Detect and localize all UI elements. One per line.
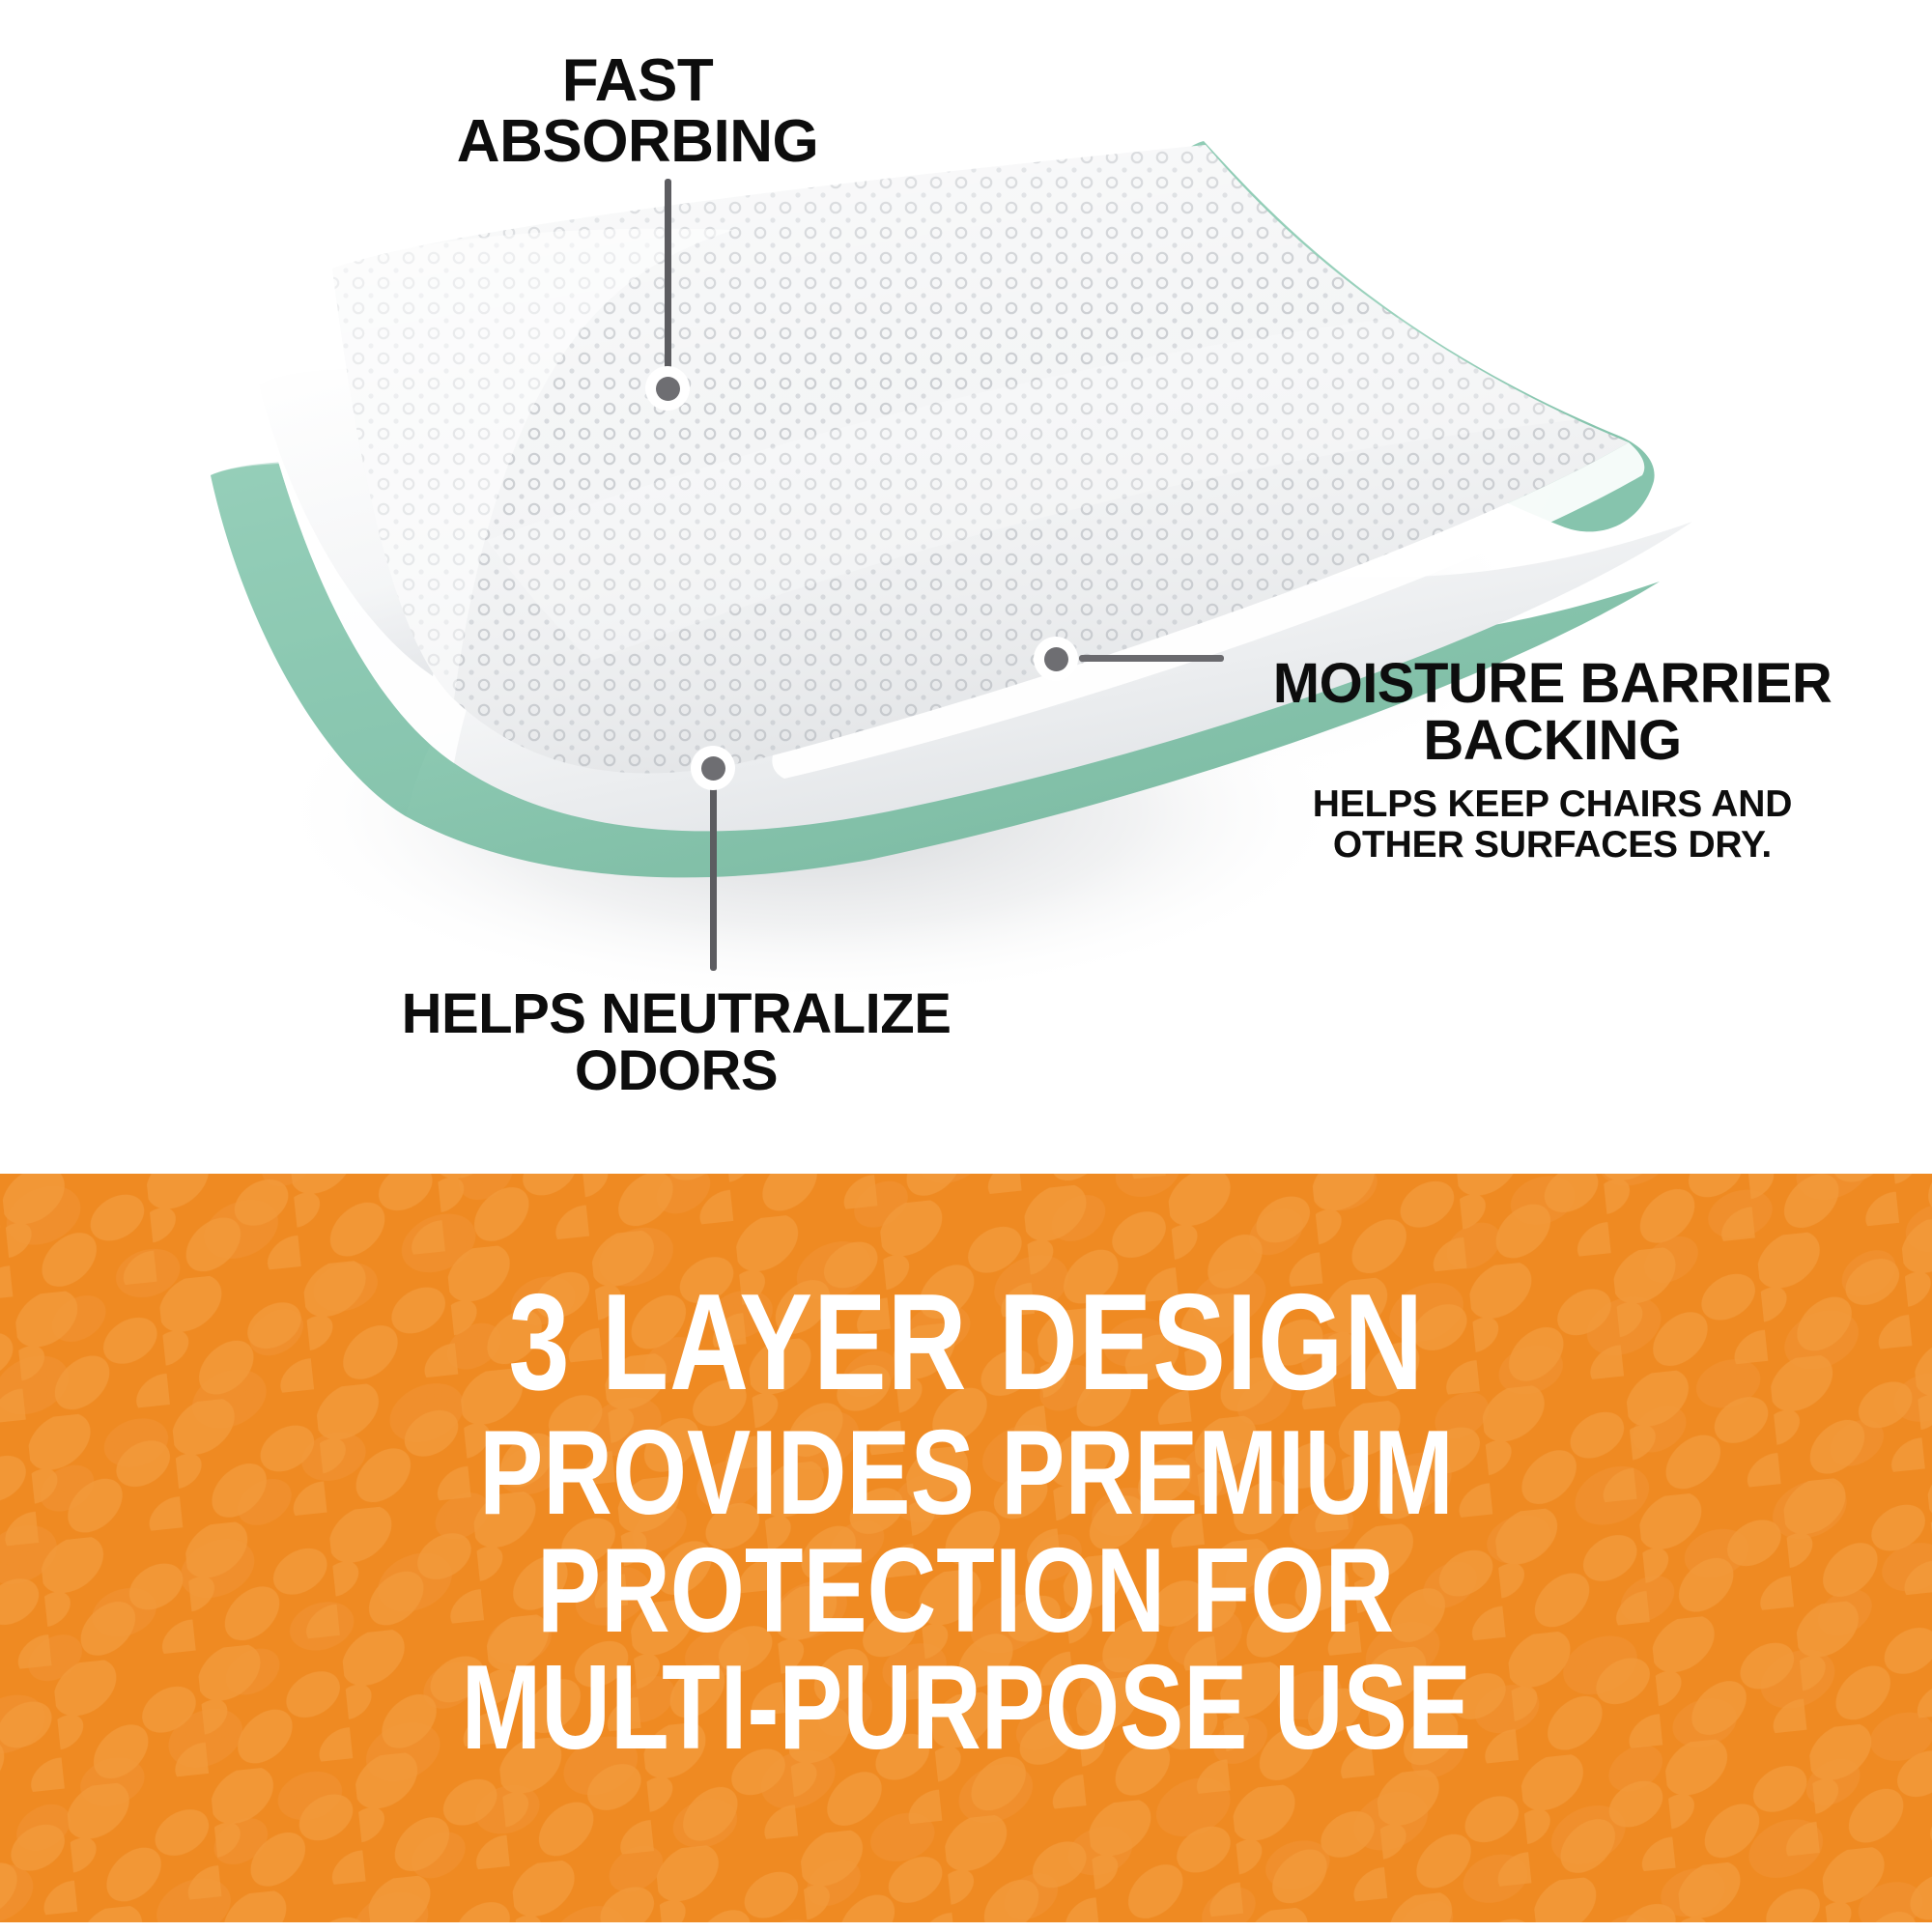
callout-moisture-barrier-sub-line1: HELPS KEEP CHAIRS AND — [1171, 784, 1932, 824]
callout-neutralize-odors-line2: ODORS — [319, 1042, 1034, 1099]
callout-moisture-barrier-sub-line2: OTHER SURFACES DRY. — [1171, 825, 1932, 865]
banner-subline-3: MULTI-PURPOSE USE — [461, 1650, 1470, 1768]
callout-fast-absorbing-line2: ABSORBING — [415, 111, 860, 172]
banner-subline-2: PROTECTION FOR — [537, 1533, 1394, 1651]
callout-dot-fast-absorbing — [645, 366, 690, 411]
callout-dot-neutralize-odors — [691, 746, 735, 790]
bottom-white-strip — [0, 1922, 1932, 1932]
product-illustration-section: FAST ABSORBING MOISTURE BARRIER BACKING … — [0, 0, 1932, 1174]
banner-text-block: 3 LAYER DESIGN PROVIDES PREMIUM PROTECTI… — [0, 1174, 1932, 1922]
orange-banner-section: 3 LAYER DESIGN PROVIDES PREMIUM PROTECTI… — [0, 1174, 1932, 1922]
banner-headline: 3 LAYER DESIGN — [508, 1275, 1424, 1409]
leader-line-fast-absorbing — [665, 179, 671, 382]
callout-moisture-barrier-line1: MOISTURE BARRIER — [1171, 655, 1932, 712]
callout-label-moisture-barrier: MOISTURE BARRIER BACKING HELPS KEEP CHAI… — [1171, 655, 1932, 865]
banner-subline-1: PROVIDES PREMIUM — [479, 1415, 1454, 1533]
callout-label-fast-absorbing: FAST ABSORBING — [415, 50, 860, 172]
callout-fast-absorbing-line1: FAST — [415, 50, 860, 111]
callout-moisture-barrier-line2: BACKING — [1171, 712, 1932, 769]
infographic-canvas: FAST ABSORBING MOISTURE BARRIER BACKING … — [0, 0, 1932, 1932]
callout-moisture-barrier-subtitle: HELPS KEEP CHAIRS AND OTHER SURFACES DRY… — [1171, 784, 1932, 865]
callout-neutralize-odors-line1: HELPS NEUTRALIZE — [319, 985, 1034, 1042]
leader-line-neutralize-odors — [710, 768, 717, 971]
callout-label-neutralize-odors: HELPS NEUTRALIZE ODORS — [319, 985, 1034, 1099]
callout-dot-moisture-barrier — [1034, 637, 1078, 681]
